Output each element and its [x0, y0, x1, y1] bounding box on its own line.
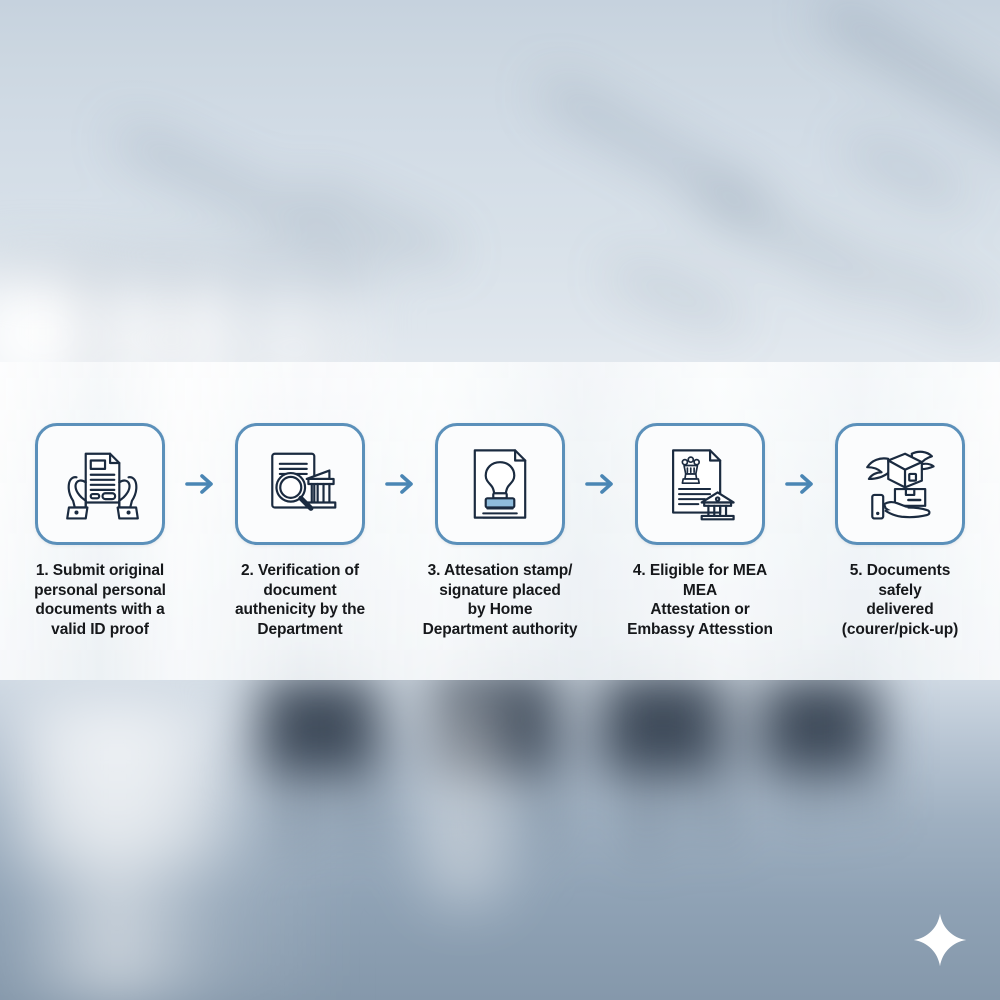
arrow-right-icon	[585, 471, 615, 497]
chair-base	[540, 772, 552, 830]
rubber-stamp-document-icon	[458, 442, 542, 526]
chair-wheel	[534, 826, 558, 843]
floor-highlight	[430, 690, 500, 900]
flow-step-3[interactable]: 3. Attesation stamp/ signature placed by…	[415, 423, 585, 639]
emblem-document-institution-icon	[658, 442, 742, 526]
infographic-canvas: 1. Submit original personal personal doc…	[0, 0, 1000, 1000]
winged-parcel-delivery-hand-icon	[858, 442, 942, 526]
flow-step-4[interactable]: 4. Eligible for MEA MEA Attestation or E…	[615, 423, 785, 639]
flow-step-1[interactable]: 1. Submit original personal personal doc…	[15, 423, 185, 639]
chair-wheel	[632, 828, 658, 846]
step-4-icon-card[interactable]	[635, 423, 765, 545]
chair-wheel	[706, 822, 730, 838]
process-flow: 1. Submit original personal personal doc…	[0, 362, 1000, 680]
office-chair	[760, 676, 878, 774]
flow-step-5[interactable]: 5. Documents safely delivered (courer/pi…	[815, 423, 985, 639]
floor-highlight	[20, 700, 220, 860]
chair-wheel	[282, 826, 308, 844]
ceiling-light	[542, 82, 767, 215]
office-chair	[260, 676, 380, 776]
chair-base	[712, 770, 724, 826]
sparkle-star-icon	[912, 912, 968, 968]
chair-base	[360, 770, 372, 828]
step-3-caption: 3. Attesation stamp/ signature placed by…	[408, 561, 593, 639]
step-3-icon-card[interactable]	[435, 423, 565, 545]
step-5-icon-card[interactable]	[835, 423, 965, 545]
step-5-caption: 5. Documents safely delivered (courer/pi…	[808, 561, 993, 639]
ceiling-light	[883, 267, 987, 323]
arrow-right-icon	[785, 471, 815, 497]
arrow-right-icon	[185, 471, 215, 497]
flow-step-2[interactable]: 2. Verification of document authenicity …	[215, 423, 385, 639]
connector-4	[785, 423, 815, 545]
office-chair	[600, 672, 726, 776]
connector-3	[585, 423, 615, 545]
step-2-icon-card[interactable]	[235, 423, 365, 545]
hands-holding-document-icon	[58, 442, 142, 526]
ceiling-light	[849, 139, 962, 201]
chair-base	[290, 772, 304, 832]
ceiling-light	[819, 1, 1000, 186]
step-4-caption: 4. Eligible for MEA MEA Attestation or E…	[608, 561, 793, 639]
window-header-beam	[0, 262, 350, 270]
chair-base	[640, 774, 654, 834]
chair-base	[862, 766, 874, 818]
ceiling-light	[613, 266, 737, 324]
document-magnifier-institution-icon	[258, 442, 342, 526]
ceiling-light	[118, 130, 332, 239]
chair-wheel	[352, 822, 376, 839]
step-2-caption: 2. Verification of document authenicity …	[208, 561, 393, 639]
connector-1	[185, 423, 215, 545]
ceiling-light	[698, 187, 882, 288]
chair-base	[800, 770, 813, 826]
connector-2	[385, 423, 415, 545]
ceiling-light	[305, 186, 456, 261]
arrow-right-icon	[385, 471, 415, 497]
step-1-icon-card[interactable]	[35, 423, 165, 545]
step-1-caption: 1. Submit original personal personal doc…	[8, 561, 193, 639]
